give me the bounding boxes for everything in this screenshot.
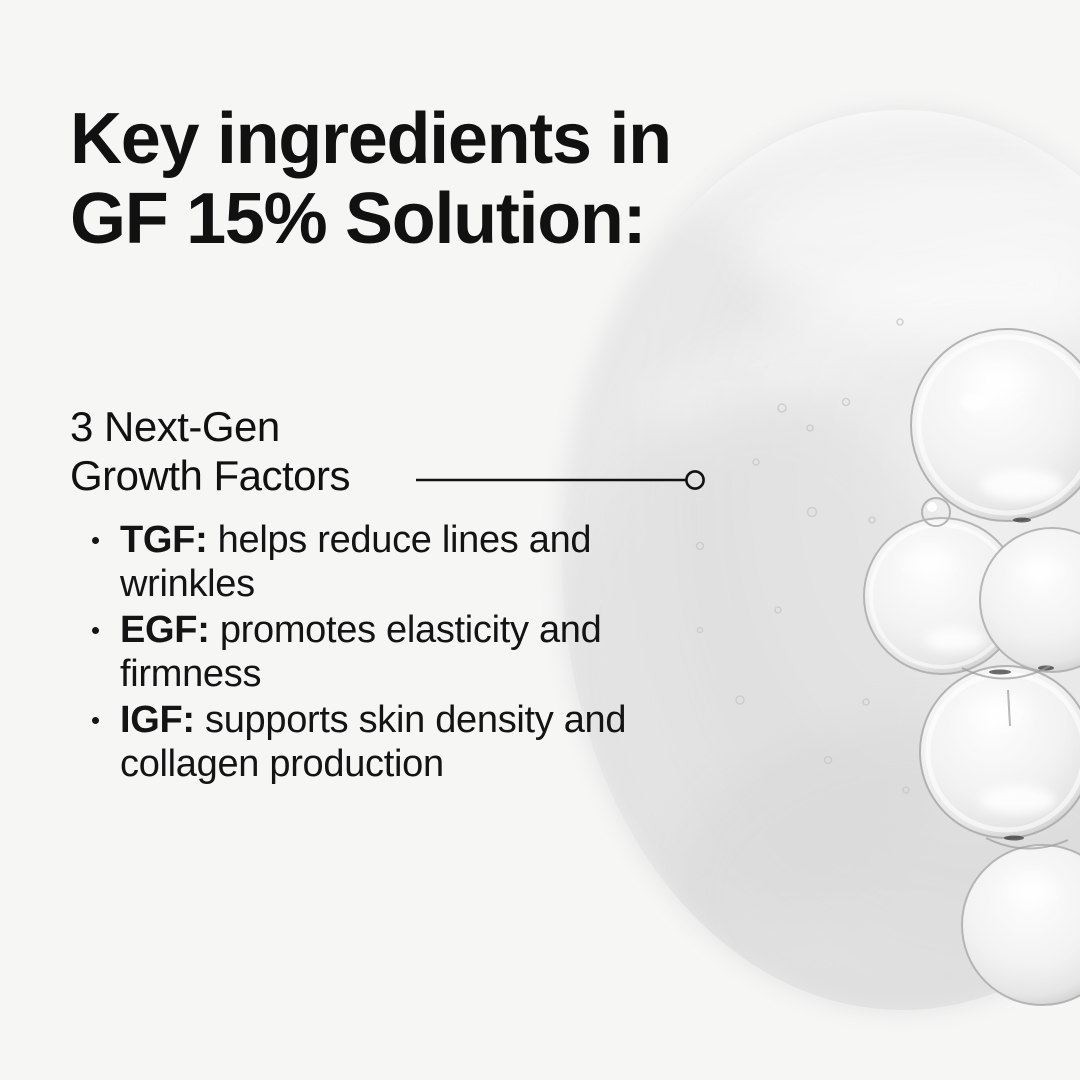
ingredient-term: TGF: xyxy=(120,519,207,561)
bullet-dot-icon xyxy=(92,627,99,634)
list-item: IGF: supports skin density and collagen … xyxy=(70,698,630,786)
bullet-dot-icon xyxy=(92,537,99,544)
list-item: TGF: helps reduce lines and wrinkles xyxy=(70,518,630,606)
slide-canvas: Key ingredients in GF 15% Solution: 3 Ne… xyxy=(0,0,1080,1080)
callout-heading: 3 Next-Gen Growth Factors xyxy=(70,402,450,500)
leader-line-icon xyxy=(414,469,714,491)
ingredient-term: EGF: xyxy=(120,609,210,651)
bullet-dot-icon xyxy=(92,717,99,724)
list-item: EGF: promotes elasticity and firmness xyxy=(70,608,630,696)
content-layer: Key ingredients in GF 15% Solution: 3 Ne… xyxy=(0,0,1080,1080)
ingredient-description: supports skin density and collagen produ… xyxy=(120,699,626,785)
page-title: Key ingredients in GF 15% Solution: xyxy=(70,100,710,260)
ingredient-list: TGF: helps reduce lines and wrinkles EGF… xyxy=(70,518,630,788)
ingredient-term: IGF: xyxy=(120,699,195,741)
